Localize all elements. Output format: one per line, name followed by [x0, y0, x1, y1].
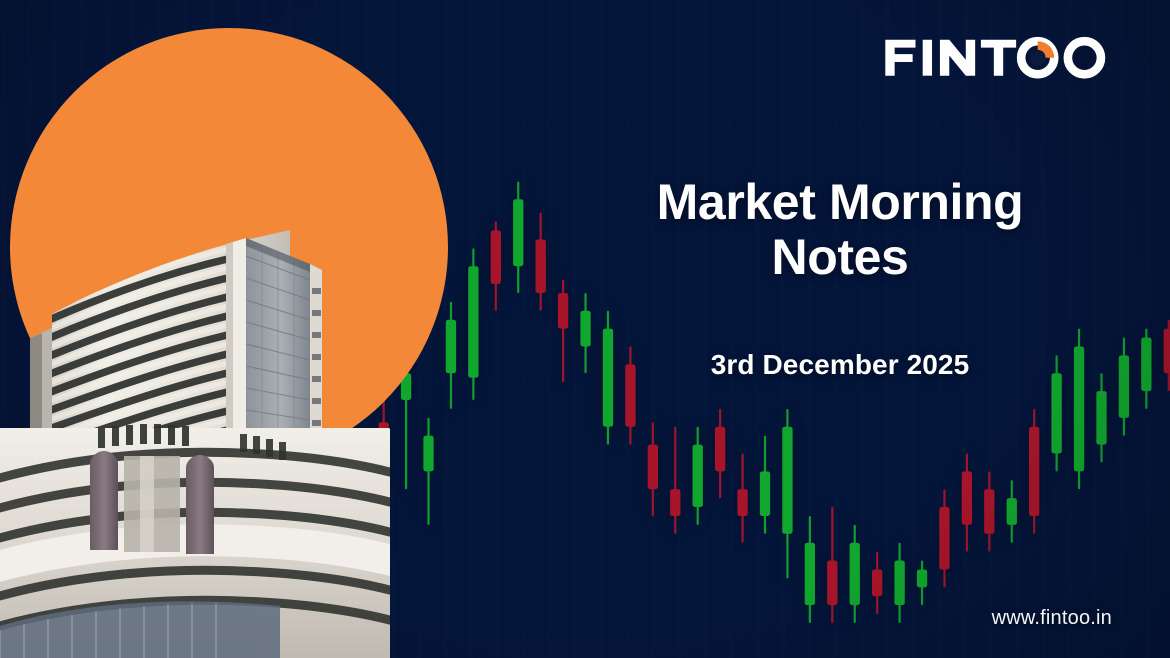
- page-title-line-1: Market Morning: [585, 175, 1095, 230]
- logo-accent-o: [1021, 41, 1054, 74]
- fintoo-logo-svg: [881, 34, 1118, 80]
- market-morning-notes-banner: Market Morning Notes 3rd December 2025 w…: [0, 0, 1170, 658]
- bse-building-photo: [0, 138, 390, 658]
- website-url[interactable]: www.fintoo.in: [992, 607, 1112, 630]
- building-podium: [0, 424, 390, 658]
- page-title-line-2: Notes: [585, 230, 1095, 285]
- page-title: Market Morning Notes: [585, 175, 1095, 285]
- fintoo-logo[interactable]: [881, 30, 1118, 84]
- building-columns: [90, 451, 214, 554]
- publication-date: 3rd December 2025: [585, 349, 1095, 381]
- bse-building-svg: [0, 138, 390, 658]
